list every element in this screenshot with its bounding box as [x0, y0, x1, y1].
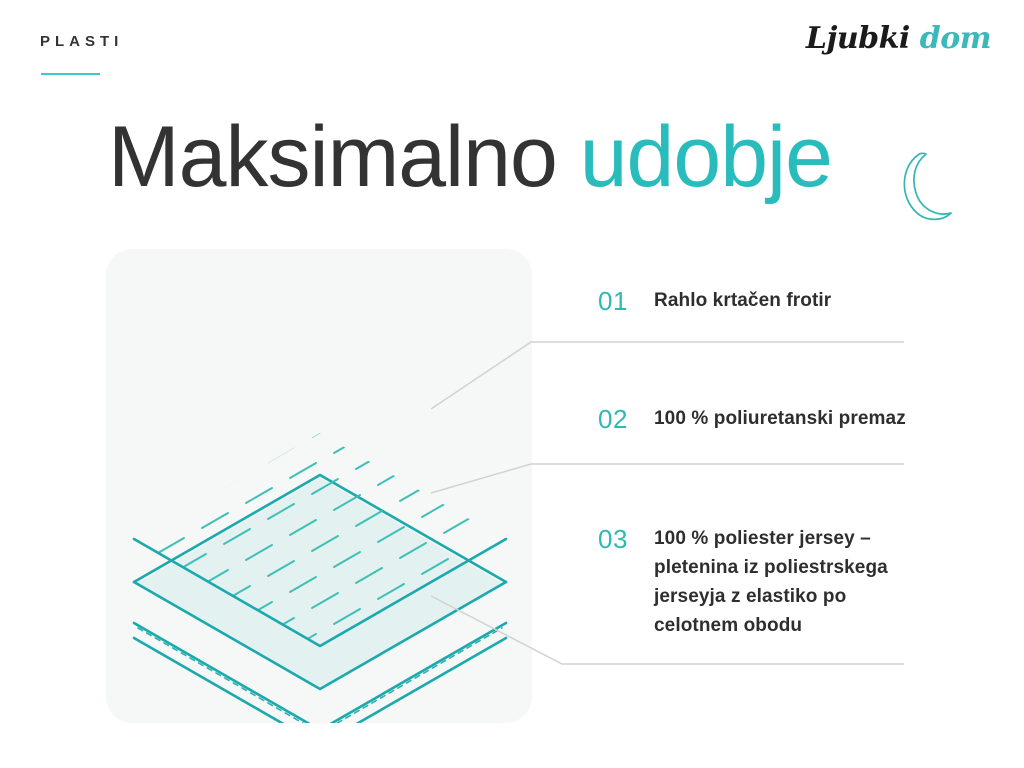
- layer-number-02: 02: [598, 405, 654, 435]
- layer-text-01: Rahlo krtačen frotir: [654, 287, 831, 316]
- crescent-moon-icon: [893, 151, 963, 223]
- layer-label-02[interactable]: 02 100 % poliuretanski premaz: [598, 405, 906, 435]
- page-header: PLASTI Ljubki dom: [0, 0, 1024, 100]
- page-kicker: PLASTI: [40, 33, 123, 50]
- page-title-dark: Maksimalno: [108, 109, 557, 205]
- kicker-underline: [41, 73, 100, 75]
- brand-logo-secondary: dom: [920, 21, 991, 56]
- layer-label-01[interactable]: 01 Rahlo krtačen frotir: [598, 287, 831, 317]
- layer-number-03: 03: [598, 525, 654, 555]
- layer-text-02: 100 % poliuretanski premaz: [654, 405, 906, 434]
- brand-logo[interactable]: Ljubki dom: [806, 24, 991, 54]
- layer-number-01: 01: [598, 287, 654, 317]
- layered-fabric-diagram: [106, 249, 532, 723]
- page-title-teal: udobje: [580, 109, 832, 205]
- brand-logo-primary: Ljubki: [806, 21, 910, 56]
- layer-text-03: 100 % poliester jersey – pletenina iz po…: [654, 525, 888, 641]
- layer-label-03[interactable]: 03 100 % poliester jersey – pletenina iz…: [598, 525, 888, 641]
- page-title: Maksimalno udobje: [108, 112, 832, 202]
